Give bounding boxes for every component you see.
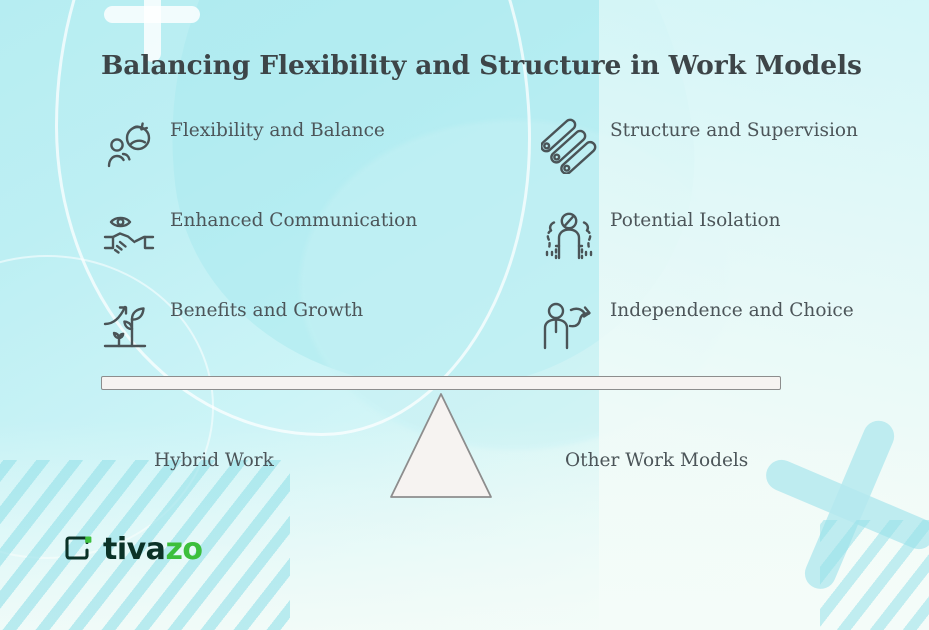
tivazo-logo: tivazo bbox=[64, 535, 203, 565]
isolated-person-dashed-icon bbox=[538, 205, 600, 267]
page-title: Balancing Flexibility and Structure in W… bbox=[101, 50, 862, 81]
person-branching-path-icon bbox=[538, 295, 600, 357]
stacked-bars-diagonal-icon bbox=[538, 115, 600, 177]
feature-label: Flexibility and Balance bbox=[170, 118, 385, 143]
feature-label: Benefits and Growth bbox=[170, 298, 363, 323]
feature-item-potential-isolation: Potential Isolation bbox=[538, 203, 928, 293]
growing-plant-arrow-icon bbox=[98, 295, 160, 357]
feature-item-enhanced-communication: Enhanced Communication bbox=[98, 203, 498, 293]
balance-beam bbox=[101, 376, 781, 390]
feature-item-benefits-growth: Benefits and Growth bbox=[98, 293, 498, 383]
feature-item-flexibility-balance: Flexibility and Balance bbox=[98, 113, 498, 203]
feature-item-structure-supervision: Structure and Supervision bbox=[538, 113, 928, 203]
left-feature-column: Flexibility and Balance Enhanced Communi… bbox=[98, 113, 498, 383]
balance-label-right: Other Work Models bbox=[565, 450, 748, 471]
feature-label: Independence and Choice bbox=[610, 298, 854, 323]
right-feature-column: Structure and Supervision bbox=[538, 113, 928, 383]
logo-text-accent: zo bbox=[165, 532, 202, 567]
feature-label: Enhanced Communication bbox=[170, 208, 417, 233]
feature-label: Structure and Supervision bbox=[610, 118, 858, 143]
eye-handshake-icon bbox=[98, 205, 160, 267]
feature-item-independence-choice: Independence and Choice bbox=[538, 293, 928, 383]
feature-label: Potential Isolation bbox=[610, 208, 781, 233]
infographic-canvas: Balancing Flexibility and Structure in W… bbox=[0, 0, 929, 630]
triangle-fulcrum bbox=[388, 391, 494, 501]
balance-label-left: Hybrid Work bbox=[154, 450, 274, 471]
person-cycle-balance-icon bbox=[98, 115, 160, 177]
tivazo-wordmark: tivazo bbox=[103, 535, 203, 565]
logo-text-primary: tiva bbox=[103, 532, 165, 567]
tivazo-bracket-icon bbox=[64, 535, 94, 565]
